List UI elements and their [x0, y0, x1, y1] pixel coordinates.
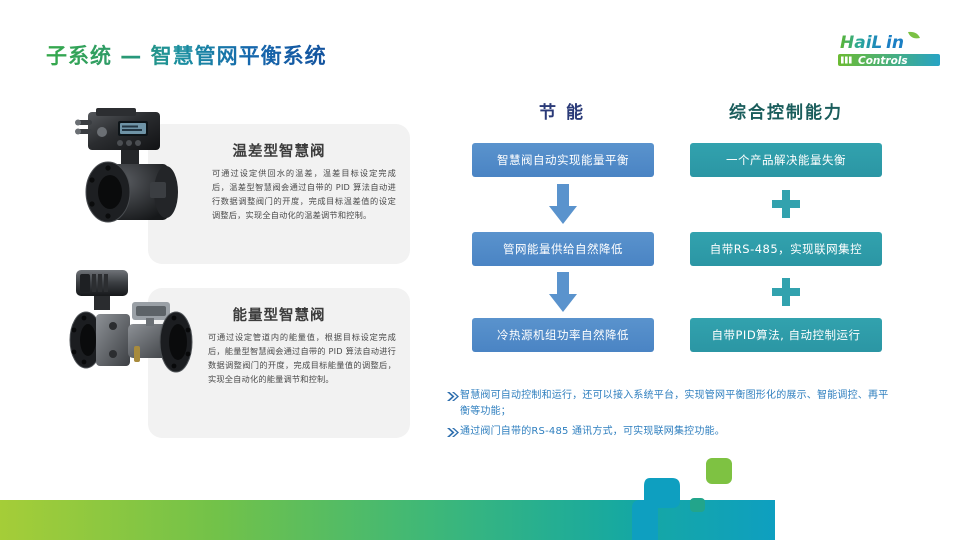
arrow-down-icon — [545, 182, 581, 226]
bullet-text: 通过阀门自带的RS-485 通讯方式，可实现联网集控功能。 — [460, 424, 725, 440]
page-title: 子系统 — 智慧管网平衡系统 — [46, 40, 327, 70]
bullet-list: 智慧阀可自动控制和运行，还可以接入系统平台，实现管网平衡图形化的展示、智能调控、… — [446, 388, 898, 445]
flow-box-control-2[interactable]: 自带RS-485，实现联网集控 — [690, 232, 882, 266]
card-body: 可通过设定管道内的能量值，根据目标设定完成后，能量型智慧阀会通过自带的 PID … — [208, 330, 396, 386]
flow-box-energy-3[interactable]: 冷热源机组功率自然降低 — [472, 318, 654, 352]
flow-box-energy-1[interactable]: 智慧阀自动实现能量平衡 — [472, 143, 654, 177]
flow-box-control-3[interactable]: 自带PID算法, 自动控制运行 — [690, 318, 882, 352]
energy-smart-valve-photo — [58, 262, 210, 394]
svg-text:in: in — [886, 33, 904, 53]
slide-root: 子系统 — 智慧管网平衡系统 HaiL in Controls — [0, 0, 960, 540]
flow-box-energy-2[interactable]: 管网能量供给自然降低 — [472, 232, 654, 266]
bullet-text: 智慧阀可自动控制和运行，还可以接入系统平台，实现管网平衡图形化的展示、智能调控、… — [460, 388, 898, 420]
card-body: 可通过设定供回水的温差，温差目标设定完成后，温差型智慧阀会通过自带的 PID 算… — [212, 166, 396, 222]
svg-text:Controls: Controls — [858, 55, 908, 67]
list-item: 智慧阀可自动控制和运行，还可以接入系统平台，实现管网平衡图形化的展示、智能调控、… — [446, 388, 898, 420]
flow-box-control-1[interactable]: 一个产品解决能量失衡 — [690, 143, 882, 177]
double-chevron-right-icon — [446, 389, 460, 404]
svg-text:HaiL: HaiL — [840, 33, 882, 53]
arrow-down-icon — [545, 270, 581, 314]
double-chevron-right-icon — [446, 425, 460, 440]
plus-icon — [770, 182, 802, 226]
footer-step-shape — [632, 472, 680, 540]
footer-square-teal — [690, 498, 705, 512]
differential-temperature-smart-valve-photo — [66, 108, 198, 238]
logo-mark-icon: HaiL in Controls — [834, 28, 944, 70]
column-heading-energy-saving: 节 能 — [468, 98, 656, 123]
plus-icon — [770, 270, 802, 314]
footer-square-green — [706, 458, 732, 484]
list-item: 通过阀门自带的RS-485 通讯方式，可实现联网集控功能。 — [446, 424, 898, 440]
column-heading-control-capability: 综合控制能力 — [692, 98, 880, 123]
hailin-controls-logo: HaiL in Controls — [834, 28, 944, 70]
